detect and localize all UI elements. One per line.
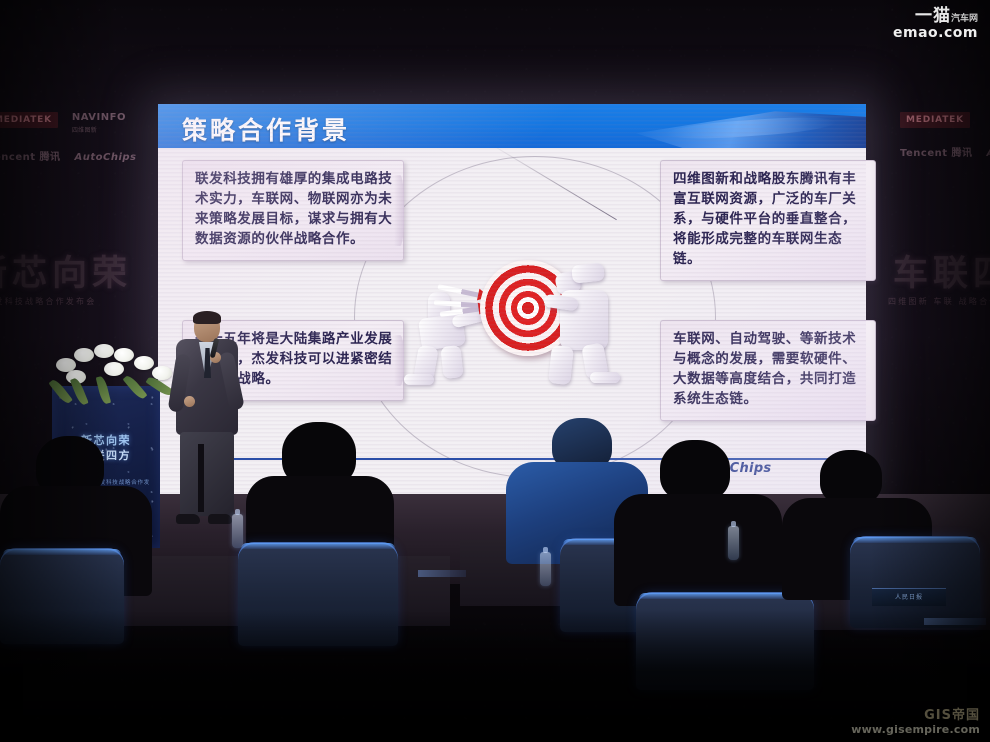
water-bottle bbox=[540, 552, 551, 586]
backdrop-right-subline: 四维图新 车联 战略合作发布会 bbox=[888, 296, 990, 307]
tencent-logo: Tencent 腾讯 bbox=[0, 152, 61, 165]
watermark-top-brand-sub: 汽车网 bbox=[951, 14, 978, 24]
flower-arrangement bbox=[48, 342, 188, 402]
watermark-top: 一猫汽车网 emao.com bbox=[893, 8, 978, 41]
audience-name-card: 人民日报 bbox=[872, 588, 946, 606]
watermark-top-domain: emao.com bbox=[893, 25, 978, 41]
speaker-hand-left bbox=[184, 396, 195, 407]
water-bottle bbox=[232, 514, 243, 548]
watermark-bottom-brand: GIS帝国 bbox=[851, 709, 980, 723]
foreground-shadow bbox=[0, 610, 990, 742]
speaker-shoe-left bbox=[176, 514, 200, 524]
tencent-logo: Tencent 腾讯 bbox=[900, 148, 973, 161]
speaker-presenter bbox=[172, 312, 244, 534]
flower-bloom bbox=[104, 362, 124, 376]
navinfo-logo-sub: 四维图新 bbox=[72, 125, 126, 134]
bullseye-illustration bbox=[394, 254, 654, 394]
backdrop-right-headline: 车联四方 bbox=[893, 245, 990, 296]
figure-right-foot bbox=[590, 372, 620, 383]
backdrop-left-subline: 与联发科技战略合作发布会 bbox=[0, 296, 96, 307]
backdrop-left-headline: 新芯向荣 bbox=[0, 245, 132, 296]
watermark-top-brand: 一猫 bbox=[915, 6, 951, 26]
slide-title-bar: 策略合作背景 bbox=[158, 104, 866, 148]
flower-bloom bbox=[74, 348, 94, 362]
figure-right-leg-front bbox=[548, 345, 574, 385]
watermark-bottom: GIS帝国 www.gisempire.com bbox=[851, 709, 980, 736]
slide-textbox-top-left: 联发科技拥有雄厚的集成电路技术实力，车联网、物联网亦为未来策略发展目标，谋求与拥… bbox=[182, 160, 404, 261]
flower-leaf bbox=[96, 375, 112, 404]
figure-left-foot bbox=[404, 374, 434, 385]
backdrop-right-logos: MEDIATEK Tencent 腾讯 AutoChips bbox=[900, 112, 990, 161]
flower-leaf bbox=[123, 374, 148, 401]
flower-bloom bbox=[114, 348, 134, 362]
slide-textbox-top-right: 四维图新和战略股东腾讯有丰富互联网资源，广泛的车厂关系，与硬件平台的垂直整合，将… bbox=[660, 160, 876, 281]
speaker-legs bbox=[180, 432, 234, 516]
audience-papers bbox=[418, 570, 466, 577]
flower-leaf bbox=[70, 377, 89, 406]
mediatek-logo: MEDIATEK bbox=[900, 112, 970, 128]
figure-left-leg-front bbox=[440, 345, 463, 379]
audience-name-card-label: 人民日报 bbox=[872, 589, 946, 606]
speaker-shoe-right bbox=[208, 514, 232, 524]
watermark-bottom-domain: www.gisempire.com bbox=[851, 723, 980, 736]
audience-body bbox=[614, 494, 782, 606]
conference-photo: MEDIATEK NAVINFO 四维图新 Tencent 腾讯 AutoChi… bbox=[0, 0, 990, 742]
speaker-hair bbox=[193, 311, 221, 324]
speaker-leg-gap bbox=[198, 444, 204, 512]
figure-right-shoulder bbox=[571, 262, 605, 283]
footer-rule bbox=[182, 458, 842, 460]
navinfo-logo: NAVINFO bbox=[72, 112, 126, 125]
projection-screen: 策略合作背景 联发科技拥有雄厚的集成电路技术实力，车联网、物联网亦为未来策略发展… bbox=[158, 104, 866, 494]
flower-bloom bbox=[134, 356, 154, 370]
autochips-logo: AutoChips bbox=[987, 148, 990, 161]
flower-bloom bbox=[94, 344, 114, 358]
backdrop-left-logos: MEDIATEK NAVINFO 四维图新 Tencent 腾讯 AutoChi… bbox=[0, 112, 137, 164]
slide-body: 联发科技拥有雄厚的集成电路技术实力，车联网、物联网亦为未来策略发展目标，谋求与拥… bbox=[158, 148, 866, 494]
slide-title: 策略合作背景 bbox=[182, 111, 350, 147]
audience-head bbox=[660, 440, 730, 502]
mediatek-logo: MEDIATEK bbox=[0, 112, 58, 128]
autochips-logo: AutoChips bbox=[75, 152, 137, 165]
slide-textbox-bottom-right: 车联网、自动驾驶、等新技术与概念的发展，需要软硬件、大数据等高度结合，共同打造系… bbox=[660, 320, 876, 421]
water-bottle bbox=[728, 526, 739, 560]
